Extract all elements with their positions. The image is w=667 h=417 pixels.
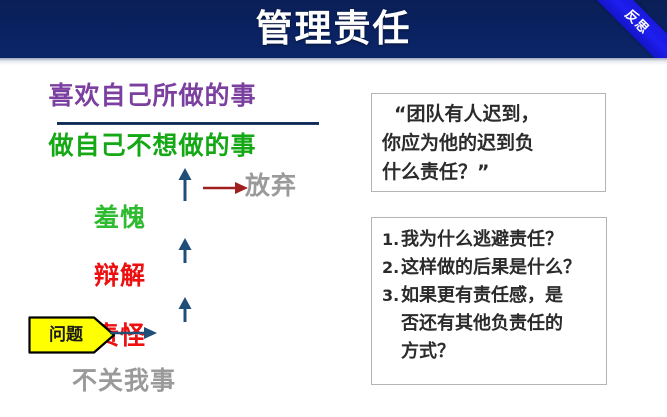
question-text: 我为什么逃避责任？ bbox=[401, 226, 600, 254]
quote-text: “团队有人迟到， 你应为他的迟到负 什么责任？” bbox=[382, 100, 600, 187]
arrow-right-to-give-up-icon bbox=[203, 180, 249, 201]
question-text: 如果更有责任感，是 否还有其他负责任的 方式？ bbox=[401, 282, 600, 366]
ladder-step-not-my-business: 不关我事 bbox=[0, 369, 360, 394]
list-item: 2. 这样做的后果是什么？ bbox=[382, 254, 600, 282]
quote-line-1: “团队有人迟到， bbox=[382, 100, 600, 129]
quote-box: “团队有人迟到， 你应为他的迟到负 什么责任？” bbox=[371, 93, 606, 192]
quote-line-3: 什么责任？” bbox=[382, 158, 600, 187]
ladder-step-like-what-you-do: 喜欢自己所做的事 bbox=[0, 84, 360, 109]
list-item: 1. 我为什么逃避责任？ bbox=[382, 226, 600, 254]
question-text-line-2: 否还有其他负责任的 bbox=[401, 313, 563, 334]
ladder-step-excuse: 辩解 bbox=[0, 264, 360, 289]
question-number: 2. bbox=[382, 254, 401, 282]
reflection-questions-list: 1. 我为什么逃避责任？ 2. 这样做的后果是什么？ 3. 如果更有责任感，是 … bbox=[382, 226, 600, 366]
arrow-right-problem-to-blame-icon bbox=[110, 324, 158, 347]
question-number: 1. bbox=[382, 226, 401, 254]
reflection-questions-box: 1. 我为什么逃避责任？ 2. 这样做的后果是什么？ 3. 如果更有责任感，是 … bbox=[371, 217, 607, 385]
ladder-step-shame: 羞愧 bbox=[0, 206, 360, 231]
list-item: 3. 如果更有责任感，是 否还有其他负责任的 方式？ bbox=[382, 282, 600, 366]
ladder-outcome-give-up: 放弃 bbox=[245, 174, 297, 199]
question-text: 这样做的后果是什么？ bbox=[401, 254, 600, 282]
ladder-step-do-what-you-dont-want: 做自己不想做的事 bbox=[0, 134, 360, 159]
responsibility-ladder-diagram: 喜欢自己所做的事 做自己不想做的事 放弃 羞愧 辩解 bbox=[0, 62, 360, 417]
question-text-line-1: 如果更有责任感，是 bbox=[401, 285, 563, 306]
slide-canvas: 管理责任 反思 喜欢自己所做的事 做自己不想做的事 放弃 羞愧 bbox=[0, 0, 667, 417]
question-number: 3. bbox=[382, 282, 401, 310]
page-title: 管理责任 bbox=[0, 2, 667, 56]
arrow-up-shame-to-duty-icon bbox=[176, 168, 194, 207]
quote-line-2: 你应为他的迟到负 bbox=[382, 129, 600, 158]
title-bar: 管理责任 反思 bbox=[0, 0, 667, 58]
question-text-line-3: 方式？ bbox=[401, 341, 455, 362]
ladder-divider-line bbox=[57, 122, 319, 125]
problem-callout-label: 问题 bbox=[28, 316, 104, 354]
problem-callout-shape: 问题 bbox=[28, 316, 116, 354]
